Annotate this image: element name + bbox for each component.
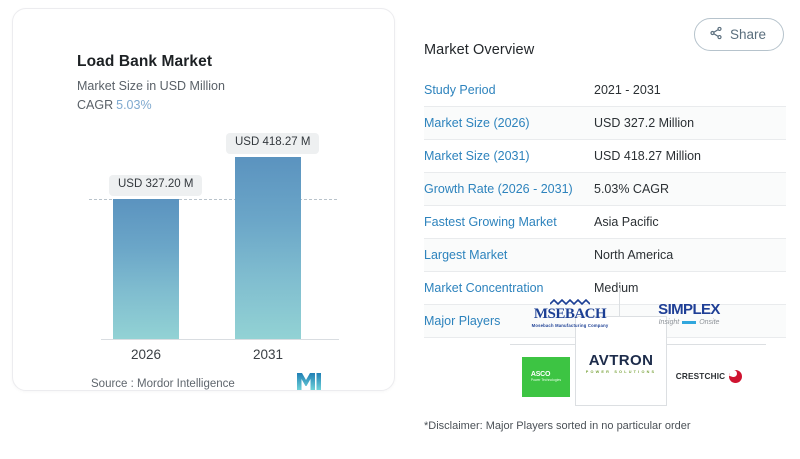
simplex-tagline-right: Onsite bbox=[699, 319, 719, 326]
row-value-largest-market: North America bbox=[594, 239, 786, 272]
table-row: Fastest Growing Market Asia Pacific bbox=[424, 206, 786, 239]
disclaimer-text: *Disclaimer: Major Players sorted in no … bbox=[424, 420, 691, 432]
row-value-fastest-growing-market: Asia Pacific bbox=[594, 206, 786, 239]
simplex-tagline: InsightOnsite bbox=[658, 319, 720, 326]
table-row: Growth Rate (2026 - 2031) 5.03% CAGR bbox=[424, 173, 786, 206]
x-axis-line bbox=[101, 339, 339, 340]
row-label-market-size-2026[interactable]: Market Size (2026) bbox=[424, 107, 594, 140]
row-label-fastest-growing-market[interactable]: Fastest Growing Market bbox=[424, 206, 594, 239]
row-value-market-size-2026: USD 327.2 Million bbox=[594, 107, 786, 140]
mosebach-tagline: Mosebach Manufacturing Company bbox=[532, 324, 609, 328]
row-value-market-size-2031: USD 418.27 Million bbox=[594, 140, 786, 173]
reference-dashed-line bbox=[89, 199, 337, 200]
player-logo-asco: ASCO Power Technologies bbox=[518, 354, 574, 400]
asco-tagline: Power Technologies bbox=[531, 379, 561, 382]
table-row: Market Size (2026) USD 327.2 Million bbox=[424, 107, 786, 140]
row-label-largest-market[interactable]: Largest Market bbox=[424, 239, 594, 272]
chart-title: Load Bank Market bbox=[77, 53, 212, 71]
grid-divider-horizontal-left bbox=[510, 344, 575, 345]
cagr-value: 5.03% bbox=[116, 98, 151, 112]
x-tick-2031: 2031 bbox=[235, 347, 301, 362]
source-text: Source : Mordor Intelligence bbox=[91, 378, 235, 390]
simplex-wordmark: SIMPLEX bbox=[658, 302, 720, 317]
chart-card: Load Bank Market Market Size in USD Mill… bbox=[12, 8, 395, 391]
row-label-market-size-2031[interactable]: Market Size (2031) bbox=[424, 140, 594, 173]
avtron-tagline: POWER SOLUTIONS bbox=[586, 371, 657, 375]
player-logo-mosebach: MSEBACH Mosebach Manufacturing Company bbox=[518, 290, 622, 338]
cagr-label: CAGR bbox=[77, 98, 113, 112]
table-row: Study Period 2021 - 2031 bbox=[424, 74, 786, 107]
asco-wordmark: ASCO bbox=[531, 371, 561, 378]
simplex-dash-icon bbox=[682, 321, 696, 324]
crestchic-wordmark: CRESTCHIC bbox=[676, 372, 726, 381]
bar-value-label-2031: USD 418.27 M bbox=[226, 133, 319, 154]
bar-2031[interactable] bbox=[235, 157, 301, 339]
bar-2026[interactable] bbox=[113, 199, 179, 339]
source-row: Source : Mordor Intelligence bbox=[91, 373, 321, 395]
row-label-study-period[interactable]: Study Period bbox=[424, 74, 594, 107]
row-value-growth-rate: 5.03% CAGR bbox=[594, 173, 786, 206]
overview-title: Market Overview bbox=[424, 42, 786, 58]
bar-value-label-2026: USD 327.20 M bbox=[109, 175, 202, 196]
table-row: Largest Market North America bbox=[424, 239, 786, 272]
mordor-intelligence-logo-icon bbox=[297, 373, 321, 395]
x-tick-2026: 2026 bbox=[113, 347, 179, 362]
major-players-logo-grid: MSEBACH Mosebach Manufacturing Company S… bbox=[500, 288, 776, 406]
share-nodes-icon bbox=[709, 26, 723, 43]
mosebach-wordmark: MSEBACH bbox=[532, 307, 609, 322]
grid-divider-horizontal-right bbox=[667, 344, 766, 345]
row-label-growth-rate[interactable]: Growth Rate (2026 - 2031) bbox=[424, 173, 594, 206]
row-value-study-period: 2021 - 2031 bbox=[594, 74, 786, 107]
table-row: Market Size (2031) USD 418.27 Million bbox=[424, 140, 786, 173]
player-logo-avtron: AVTRON POWER SOLUTIONS bbox=[578, 344, 664, 384]
player-logo-simplex: SIMPLEX InsightOnsite bbox=[642, 292, 736, 336]
chart-cagr: CAGR5.03% bbox=[77, 98, 152, 112]
avtron-wordmark: AVTRON bbox=[586, 353, 657, 368]
share-button-label: Share bbox=[730, 27, 766, 42]
chart-subtitle: Market Size in USD Million bbox=[77, 79, 225, 93]
crestchic-mark-icon bbox=[729, 370, 742, 383]
simplex-tagline-left: Insight bbox=[659, 319, 680, 326]
player-logo-crestchic: CRESTCHIC bbox=[656, 360, 762, 392]
